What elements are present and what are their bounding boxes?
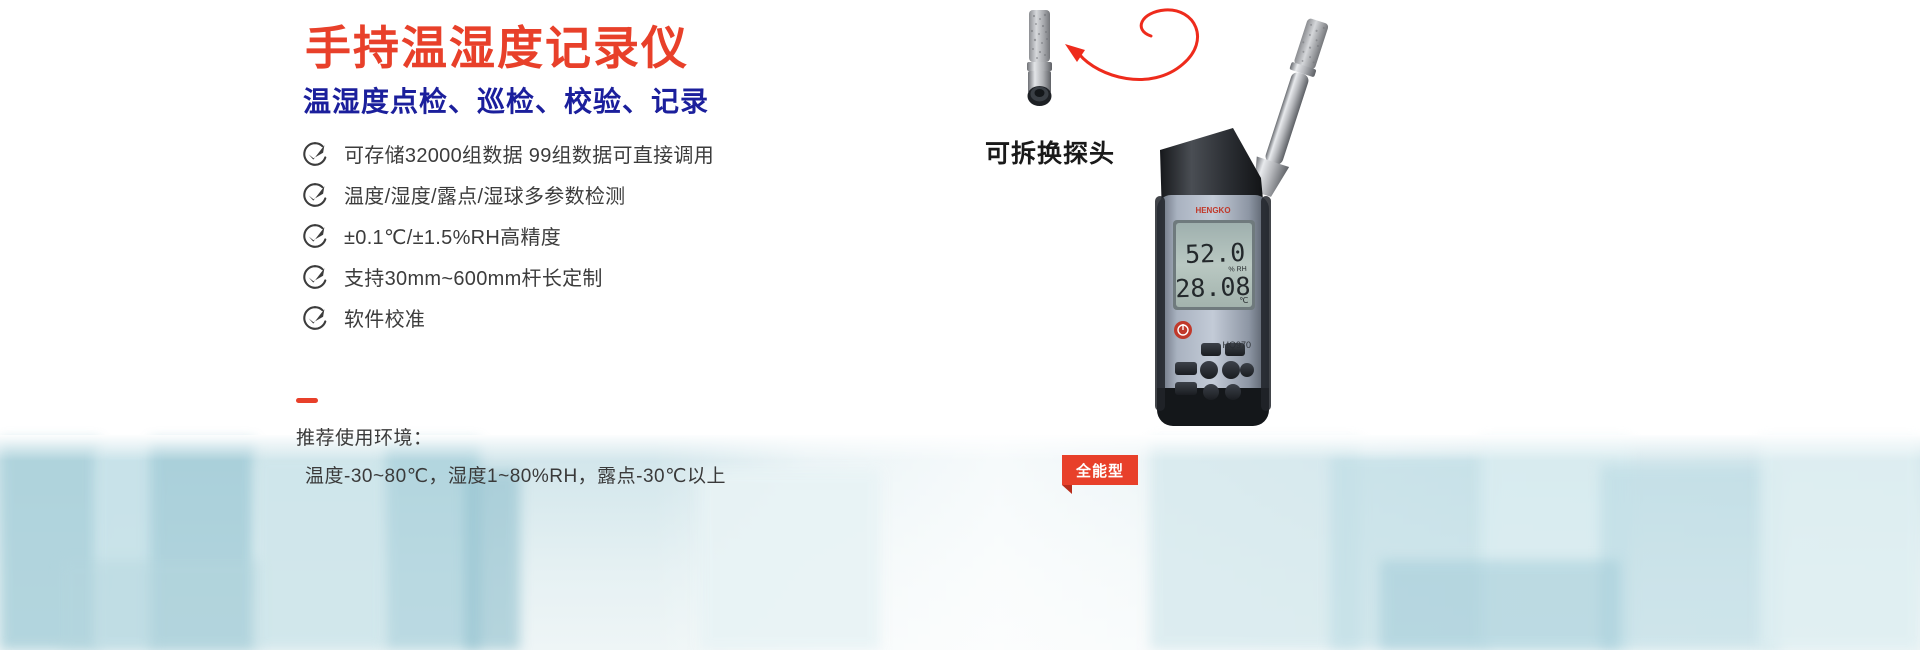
list-item: ±0.1℃/±1.5%RH高精度	[302, 215, 714, 256]
background-block	[60, 560, 260, 650]
feature-list: 可存储32000组数据 99组数据可直接调用 温度/湿度/露点/湿球多参数检测	[302, 133, 714, 338]
list-item: 可存储32000组数据 99组数据可直接调用	[302, 133, 714, 174]
status-badge: 全能型	[1062, 455, 1138, 485]
background-block	[700, 470, 880, 650]
list-item: 温度/湿度/露点/湿球多参数检测	[302, 174, 714, 215]
brand-text: HENGKO	[1195, 206, 1230, 215]
list-item: 软件校准	[302, 297, 714, 338]
lcd-humidity-value: 52.0	[1185, 238, 1246, 269]
feature-text: 支持30mm~600mm杆长定制	[344, 262, 603, 291]
background-block	[1760, 440, 1920, 650]
feature-text: 温度/湿度/露点/湿球多参数检测	[344, 180, 625, 209]
detachable-probe-image	[1020, 8, 1060, 113]
environment-detail: 温度-30~80℃，湿度1~80%RH，露点-30℃以上	[305, 461, 726, 488]
background-block	[465, 470, 520, 650]
page-subtitle: 温湿度点检、巡检、校验、记录	[303, 80, 709, 120]
red-dash-divider	[296, 398, 318, 403]
background-block	[1380, 560, 1620, 650]
check-circle-icon	[302, 141, 328, 167]
feature-text: ±0.1℃/±1.5%RH高精度	[344, 221, 561, 250]
environment-label: 推荐使用环境：	[296, 423, 433, 450]
product-image-meter: HENGKO 52.0 % RH 28.08 ℃	[1115, 0, 1345, 500]
lcd-temp-unit: ℃	[1239, 296, 1248, 305]
list-item: 支持30mm~600mm杆长定制	[302, 256, 714, 297]
check-circle-icon	[302, 264, 328, 290]
probe-callout-label: 可拆换探头	[985, 134, 1115, 170]
background-block	[1600, 465, 1780, 650]
page-title: 手持温湿度记录仪	[305, 12, 689, 78]
check-circle-icon	[302, 223, 328, 249]
product-banner: 手持温湿度记录仪 温湿度点检、巡检、校验、记录 可存储32000组数据 99组数…	[0, 0, 1920, 650]
feature-text: 软件校准	[344, 303, 425, 332]
check-circle-icon	[302, 305, 328, 331]
model-text: HQ970	[1222, 340, 1251, 350]
feature-text: 可存储32000组数据 99组数据可直接调用	[344, 139, 714, 168]
band-top-fade	[0, 435, 1920, 461]
check-circle-icon	[302, 182, 328, 208]
